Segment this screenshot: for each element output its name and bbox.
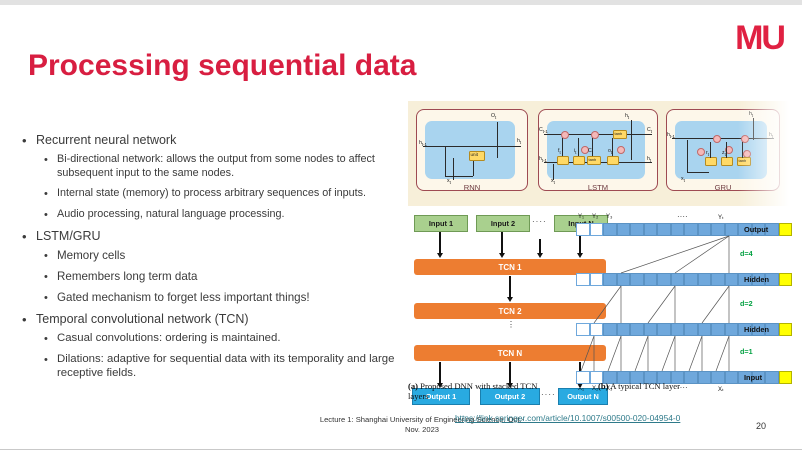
bullet-level1-label: Recurrent neural network: [36, 133, 176, 148]
wire: [687, 140, 688, 172]
sequence-cell: [711, 323, 725, 336]
sequence-cell: [684, 223, 698, 236]
input-label: xt: [681, 176, 685, 183]
axis-tick-label: Xₜ: [718, 386, 724, 393]
cell-diagram-rnn: unit ht-1 xt Ot ht RNN: [416, 109, 528, 191]
sequence-cell: [711, 223, 725, 236]
sequence-cell: [603, 323, 617, 336]
sequence-cell: [630, 273, 644, 286]
axis-tick-label: X₁: [578, 386, 584, 392]
sequence-cell: [603, 273, 617, 286]
sequence-cell: [617, 273, 631, 286]
bullet-level2: • Remembers long term data: [44, 270, 402, 284]
flow-arrow: [539, 239, 541, 254]
bullet-group-0: • Recurrent neural network • Bi-directio…: [22, 133, 402, 222]
sequence-cell: [779, 223, 793, 236]
bullet-level1: • LSTM/GRU: [22, 229, 402, 244]
op-multiply: [617, 146, 625, 154]
sequence-cell: [671, 323, 685, 336]
gate-label: tanh: [589, 157, 597, 162]
bullet-group-1: • LSTM/GRU • Memory cells • Remembers lo…: [22, 229, 402, 305]
sequence-cell: [657, 323, 671, 336]
bullet-level2: • Casual convolutions: ordering is maint…: [44, 332, 402, 346]
sequence-cell: [684, 323, 698, 336]
sequence-cell: [725, 371, 739, 384]
ellipsis-horizontal: ····: [677, 212, 688, 221]
wire: [578, 138, 579, 156]
sequence-cell: [698, 273, 712, 286]
bullet-level2-label: Bi-directional network: allows the outpu…: [57, 153, 402, 180]
wire: [612, 138, 613, 156]
sequence-cell: [779, 323, 793, 336]
input-label: Ct-1: [539, 127, 548, 134]
sequence-cell: [630, 323, 644, 336]
input-label: ht-1: [419, 140, 427, 147]
op-multiply: [713, 135, 721, 143]
sequence-cell: [698, 323, 712, 336]
sequence-cell: [644, 273, 658, 286]
bullet-level2-label: Audio processing, natural language proce…: [57, 208, 284, 222]
bullet-marker-icon: •: [22, 312, 36, 327]
wire: [453, 158, 454, 180]
row-label-hidden-1: Hidden: [744, 275, 769, 284]
axis-tick-label: Y₃: [606, 214, 612, 220]
sequence-cell: [644, 323, 658, 336]
window-bottom-rule: [0, 449, 802, 450]
cell-caption-rnn: RNN: [417, 183, 527, 192]
op-multiply: [697, 148, 705, 156]
bullet-level2-label: Remembers long term data: [57, 270, 197, 284]
wire: [726, 142, 727, 158]
gate-output: [607, 156, 619, 165]
dilation-label: d=1: [740, 347, 753, 356]
bullet-marker-icon: •: [44, 153, 57, 180]
row-label-input: Input: [744, 373, 762, 382]
figure-a-caption: (a) Proposed DNN with stacked TCN layers: [408, 381, 538, 401]
gate-symbol: ot: [608, 148, 612, 155]
output-label: Ct: [647, 127, 652, 134]
ellipsis-vertical: ⋮: [507, 323, 515, 326]
sequence-cell: [779, 273, 793, 286]
axis-tick-label: Yₜ: [718, 214, 724, 221]
figure-b-tcn-layer: Y₁ Y₂ Y₃ ···· Yₜ: [572, 211, 794, 407]
bullet-level2: • Audio processing, natural language pro…: [44, 208, 402, 222]
wire: [497, 122, 498, 158]
slide-canvas: MU Processing sequential data • Recurren…: [0, 5, 802, 449]
dilation-label: d=2: [740, 299, 753, 308]
sequence-cell: [779, 371, 793, 384]
bullet-marker-icon: •: [44, 353, 57, 380]
sequence-cell: [765, 371, 779, 384]
dilation-label: d=4: [740, 249, 753, 258]
sequence-cell: [590, 223, 604, 236]
cell-diagram-lstm: tanh tanh Ct-1 ht-1 xt ht Ct ht ft it Ct…: [538, 109, 658, 191]
bullet-marker-icon: •: [22, 229, 36, 244]
figure-a-stacked-tcn: Input 1 Input 2 ···· Input N TCN 1 TCN 2…: [408, 211, 598, 407]
output-label: Ot: [491, 113, 496, 120]
ellipsis-horizontal: ····: [541, 390, 556, 399]
sequence-cell: [725, 323, 739, 336]
gate-update: [721, 157, 733, 166]
page-number: 20: [756, 421, 766, 431]
flow-arrow: [501, 232, 503, 254]
bullet-level1: • Recurrent neural network: [22, 133, 402, 148]
bullet-level2-label: Internal state (memory) to process arbit…: [57, 187, 366, 201]
wire: [687, 172, 709, 173]
sequence-cell: [725, 273, 739, 286]
input-label: ht-1: [667, 132, 675, 139]
flow-arrow: [509, 276, 511, 298]
wire: [562, 138, 563, 156]
ellipsis-horizontal: ····: [532, 217, 547, 226]
bullet-marker-icon: •: [22, 133, 36, 148]
sequence-cell: [657, 273, 671, 286]
sequence-cell: [698, 371, 712, 384]
footer-line-2: Nov. 2023: [272, 425, 572, 435]
sequence-cell: [725, 223, 739, 236]
bullet-marker-icon: •: [44, 291, 57, 305]
sequence-cell: [590, 273, 604, 286]
sequence-cell: [576, 323, 590, 336]
bullet-level1: • Temporal convolutional network (TCN): [22, 312, 402, 327]
bullet-level1-label: Temporal convolutional network (TCN): [36, 312, 249, 327]
wire: [710, 142, 711, 158]
sequence-cell: [617, 323, 631, 336]
sequence-cell: [711, 273, 725, 286]
figure-rnn-lstm-gru: unit ht-1 xt Ot ht RNN tanh tanh: [408, 101, 794, 206]
gate-symbol: zt: [722, 150, 726, 157]
bullet-list: • Recurrent neural network • Bi-directio…: [22, 133, 402, 387]
bullet-level1-label: LSTM/GRU: [36, 229, 101, 244]
wire: [423, 146, 521, 147]
gate-symbol: Ct: [588, 148, 593, 155]
row-label-hidden-2: Hidden: [744, 325, 769, 334]
sequence-cell: [576, 273, 590, 286]
sequence-cell: [671, 273, 685, 286]
gate-symbol: rt: [706, 150, 709, 157]
bullet-level2-label: Dilations: adaptive for sequential data …: [57, 353, 402, 380]
wire: [445, 146, 446, 176]
axis-tick-label: Y₂: [592, 214, 598, 220]
bullet-marker-icon: •: [44, 332, 57, 346]
figure-b-caption: (b) A typical TCN layer: [598, 381, 680, 391]
output-label: ht: [517, 138, 521, 145]
wire: [631, 120, 632, 160]
sequence-cell: [657, 223, 671, 236]
wire: [445, 176, 473, 177]
figure-a-caption-tag: (a): [408, 381, 418, 391]
sequence-cell: [698, 223, 712, 236]
input-label: ht-1: [539, 156, 547, 163]
gate-reset: [705, 157, 717, 166]
bullet-level2-label: Memory cells: [57, 249, 125, 263]
gate-label: tanh: [615, 131, 623, 136]
bullet-marker-icon: •: [44, 270, 57, 284]
bullet-level2-label: Gated mechanism to forget less important…: [57, 291, 310, 305]
output-label: ht: [625, 113, 629, 120]
gate-symbol: ft: [558, 148, 561, 155]
bullet-level2: • Memory cells: [44, 249, 402, 263]
sequence-cell: [576, 223, 590, 236]
sequence-cell: [603, 223, 617, 236]
bullet-marker-icon: •: [44, 187, 57, 201]
input-box: Input 2: [476, 215, 530, 232]
input-box: Input 1: [414, 215, 468, 232]
bullet-marker-icon: •: [44, 208, 57, 222]
figure-fade-edge: [738, 101, 794, 206]
bullet-level2: • Dilations: adaptive for sequential dat…: [44, 353, 402, 380]
sequence-cell: [617, 223, 631, 236]
gate-label: unit: [471, 152, 478, 157]
cell-caption-lstm: LSTM: [539, 183, 657, 192]
bullet-level2-label: Casual convolutions: ordering is maintai…: [57, 332, 281, 346]
page-title: Processing sequential data: [28, 49, 416, 83]
source-link[interactable]: https://link.springer.com/article/10.100…: [455, 413, 680, 423]
sequence-cell: [711, 371, 725, 384]
bullet-group-2: • Temporal convolutional network (TCN) •…: [22, 312, 402, 380]
bullet-level2: • Bi-directional network: allows the out…: [44, 153, 402, 180]
row-label-output: Output: [744, 225, 768, 234]
figure-a-caption-text: Proposed DNN with stacked TCN layers: [408, 381, 537, 401]
gate-input: [573, 156, 585, 165]
bullet-marker-icon: •: [44, 249, 57, 263]
sequence-cell: [576, 371, 590, 384]
sequence-cell: [630, 223, 644, 236]
mu-logo: MU: [735, 21, 784, 55]
sequence-cell: [644, 223, 658, 236]
axis-tick-label: Y₁: [578, 214, 584, 220]
flow-arrow: [439, 232, 441, 254]
sequence-cell: [671, 223, 685, 236]
gate-symbol: it: [574, 148, 576, 155]
sequence-cell: [684, 273, 698, 286]
sequence-cell: [590, 323, 604, 336]
bullet-level2: • Gated mechanism to forget less importa…: [44, 291, 402, 305]
output-label: ht: [647, 156, 651, 163]
figure-b-caption-tag: (b): [598, 381, 609, 391]
bullet-level2: • Internal state (memory) to process arb…: [44, 187, 402, 201]
gate-forget: [557, 156, 569, 165]
cell-body: [425, 121, 515, 179]
figure-b-caption-text: A typical TCN layer: [609, 381, 680, 391]
